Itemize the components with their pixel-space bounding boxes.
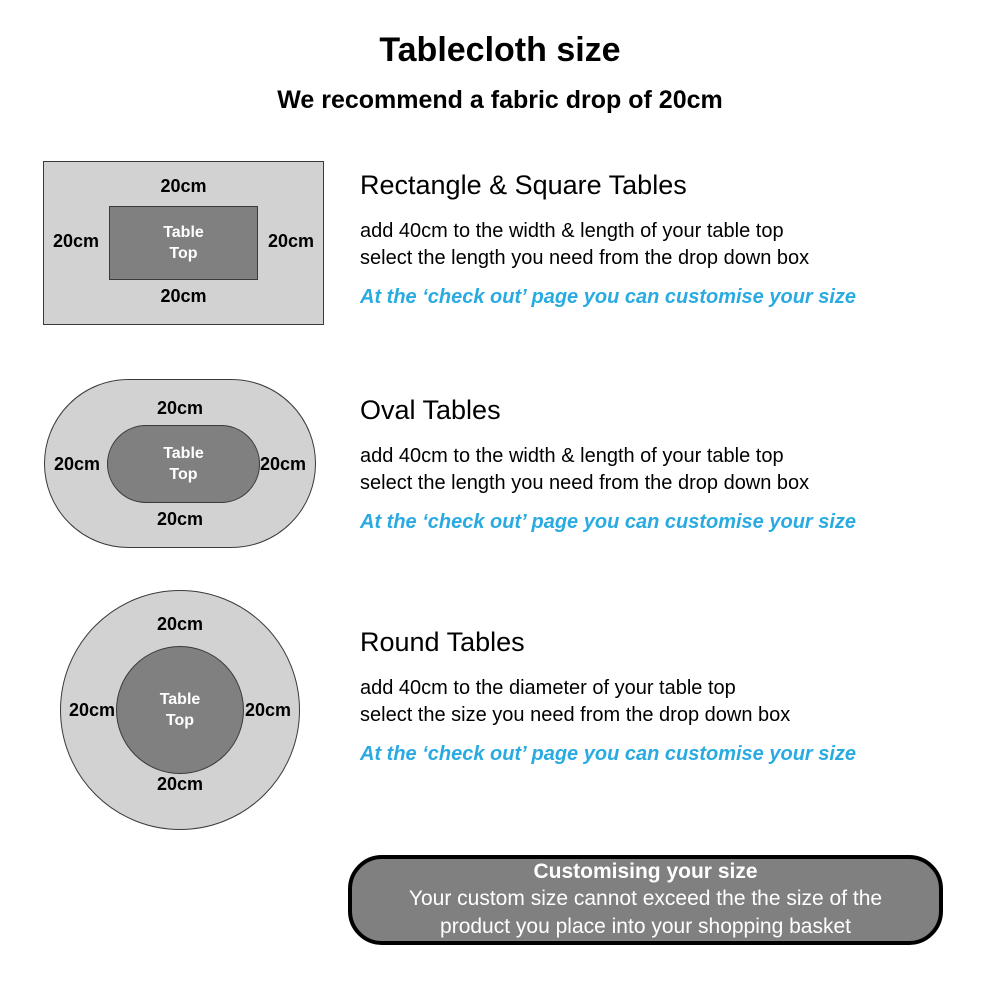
section-rectangle-square-tables: Rectangle & Square Tables add 40cm to th… [360,168,980,311]
rectangle-drop-label-left: 20cm [43,231,109,251]
round-drop-label-right: 20cm [240,700,296,720]
rectangle-table-diagram: Table Top 20cm 20cm 20cm 20cm [43,161,324,325]
tabletop-label-line1: Table [163,443,204,464]
rectangle-drop-label-top: 20cm [43,176,324,196]
oval-drop-label-bottom: 20cm [44,509,316,529]
page-title: Tablecloth size [0,30,1000,70]
tabletop-label-line2: Top [169,243,197,264]
callout-title: Customising your size [533,859,757,885]
page-subtitle: We recommend a fabric drop of 20cm [0,84,1000,116]
section-checkout-note: At the ‘check out’ page you can customis… [360,741,980,768]
section-instruction-line-1: add 40cm to the width & length of your t… [360,218,980,245]
tabletop-label-line1: Table [160,689,201,710]
section-instruction-line-1: add 40cm to the diameter of your table t… [360,675,980,702]
tabletop-label-line2: Top [166,710,194,731]
round-table-diagram: Table Top 20cm 20cm 20cm 20cm [60,590,300,830]
rectangle-drop-label-bottom: 20cm [43,286,324,306]
section-checkout-note: At the ‘check out’ page you can customis… [360,284,980,311]
callout-line-1: Your custom size cannot exceed the the s… [409,885,882,913]
round-tabletop-shape: Table Top [116,646,244,774]
section-instruction-line-2: select the size you need from the drop d… [360,702,980,729]
oval-drop-label-top: 20cm [44,398,316,418]
section-instruction-line-1: add 40cm to the width & length of your t… [360,443,980,470]
round-drop-label-left: 20cm [64,700,120,720]
section-heading: Round Tables [360,625,980,659]
section-instruction-line-2: select the length you need from the drop… [360,470,980,497]
section-oval-tables: Oval Tables add 40cm to the width & leng… [360,393,980,536]
oval-table-diagram: Table Top 20cm 20cm 20cm 20cm [44,379,316,548]
tabletop-label-line1: Table [163,222,204,243]
customising-your-size-callout: Customising your size Your custom size c… [348,855,943,945]
section-checkout-note: At the ‘check out’ page you can customis… [360,509,980,536]
callout-line-2: product you place into your shopping bas… [440,913,851,941]
round-drop-label-bottom: 20cm [60,774,300,794]
section-heading: Oval Tables [360,393,980,427]
oval-tabletop-shape: Table Top [107,425,260,503]
rectangle-tabletop-shape: Table Top [109,206,258,280]
oval-drop-label-right: 20cm [252,454,314,474]
tablecloth-size-infographic: Tablecloth size We recommend a fabric dr… [0,0,1000,1000]
section-round-tables: Round Tables add 40cm to the diameter of… [360,625,980,768]
section-instruction-line-2: select the length you need from the drop… [360,245,980,272]
section-heading: Rectangle & Square Tables [360,168,980,202]
round-drop-label-top: 20cm [60,614,300,634]
tabletop-label-line2: Top [169,464,197,485]
oval-drop-label-left: 20cm [46,454,108,474]
rectangle-drop-label-right: 20cm [258,231,324,251]
